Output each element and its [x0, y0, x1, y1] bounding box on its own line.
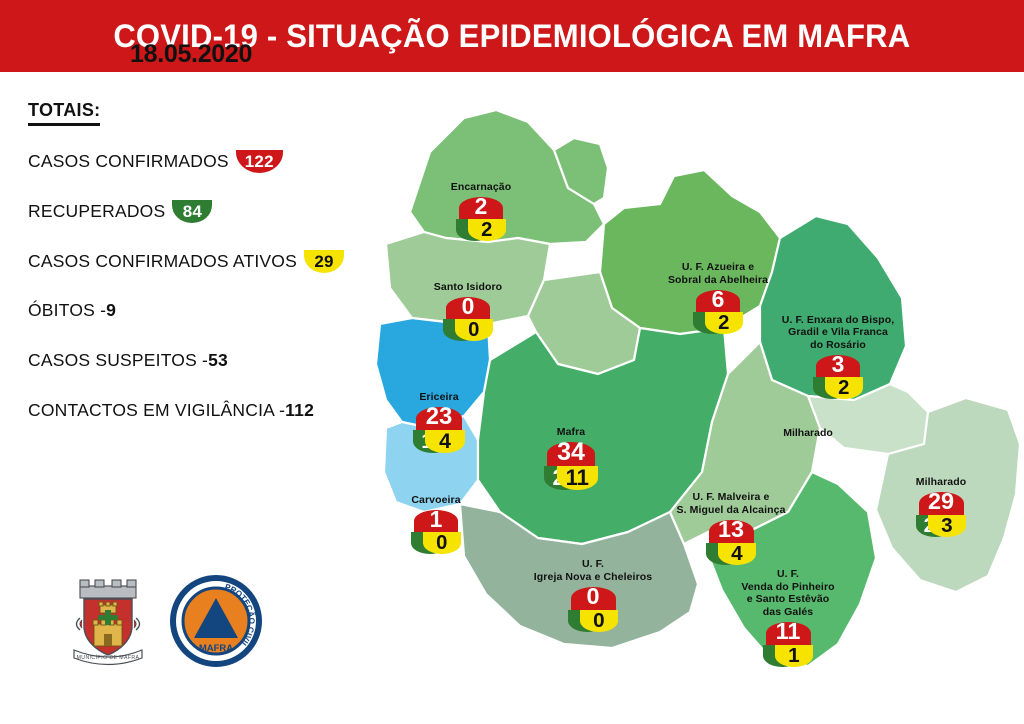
marker-label-igreja-nova-cheleiros: U. F.Igreja Nova e Cheleiros: [534, 558, 652, 583]
marker-active-encarnacao: 2: [468, 219, 506, 241]
coat-of-arms-caption: MUNICÍPIO DE MAFRA: [77, 654, 140, 661]
marker-label-line: Ericeira: [419, 391, 458, 404]
marker-confirmed-mafra: 34: [547, 442, 595, 466]
totals-heading: TOTAIS:: [28, 100, 100, 126]
marker-label-line: Sobral da Abelheira: [668, 274, 768, 287]
total-row-5: CONTACTOS EM VIGILÂNCIA - 112: [28, 400, 314, 421]
marker-active-ericeira: 4: [425, 430, 465, 453]
marker-label-line: Mafra: [557, 426, 586, 439]
marker-confirmed-encarnacao: 2: [459, 197, 503, 219]
marker-confirmed-azueira-sobral: 6: [696, 290, 740, 312]
total-row-3: ÓBITOS - 9: [28, 300, 116, 321]
marker-label-line: U. F. Malveira e: [676, 491, 785, 504]
total-label: CASOS CONFIRMADOS: [28, 151, 229, 172]
marker-active-santo-isidoro: 0: [455, 319, 493, 341]
total-value-badge: 29: [304, 250, 344, 273]
total-row-2: CASOS CONFIRMADOS ATIVOS29: [28, 250, 344, 273]
marker-label-line: U. F. Enxara do Bispo,: [782, 314, 894, 327]
marker-active-enxara-gradil-vilafranca: 2: [825, 377, 863, 399]
marker-label-line: S. Miguel da Alcainça: [676, 504, 785, 517]
marker-active-igreja-nova-cheleiros: 0: [580, 610, 619, 633]
marker-active-mafra: 11: [557, 466, 598, 490]
marker-confirmed-venda-pinheiro-sto-estevao: 11: [766, 622, 811, 645]
marker-label-azueira-sobral: U. F. Azueira eSobral da Abelheira: [668, 261, 768, 286]
marker-label-encarnacao: Encarnação: [451, 181, 512, 194]
total-label: RECUPERADOS: [28, 201, 165, 222]
protecao-civil-mafra-icon: PROTEÇÃO CIVIL MAFRA: [170, 575, 262, 667]
marker-label-ericeira: Ericeira: [419, 391, 458, 404]
logos-group: MUNICÍPIO DE MAFRA PROTEÇÃO CIVIL MAFRA: [60, 572, 280, 672]
report-date: 18.05.2020: [130, 40, 252, 69]
marker-label-santo-isidoro: Santo Isidoro: [434, 281, 502, 294]
total-value: 53: [208, 350, 228, 371]
marker-label-line: Santo Isidoro: [434, 281, 502, 294]
map-label-0: Milharado: [783, 427, 833, 439]
marker-label-line: Igreja Nova e Cheleiros: [534, 571, 652, 584]
total-row-0: CASOS CONFIRMADOS122: [28, 150, 283, 173]
total-label: ÓBITOS -: [28, 300, 106, 321]
protecao-civil-mafra-text: MAFRA: [199, 643, 233, 654]
marker-label-line: U. F.: [534, 558, 652, 571]
marker-confirmed-milharado: 29: [919, 492, 964, 515]
totals-panel: 18.05.2020 TOTAIS: CASOS CONFIRMADOS122R…: [0, 0, 370, 420]
marker-confirmed-igreja-nova-cheleiros: 0: [571, 587, 616, 610]
total-row-4: CASOS SUSPEITOS - 53: [28, 350, 228, 371]
marker-active-malveira-smiguel: 4: [718, 543, 757, 566]
total-value-badge: 122: [236, 150, 283, 173]
marker-active-azueira-sobral: 2: [705, 312, 743, 334]
marker-label-line: Carvoeira: [411, 494, 460, 507]
marker-label-line: Encarnação: [451, 181, 512, 194]
marker-label-carvoeira: Carvoeira: [411, 494, 460, 507]
marker-label-line: e Santo Estêvão: [741, 593, 834, 606]
marker-label-venda-pinheiro-sto-estevao: U. F.Venda do Pinheiroe Santo Estêvãodas…: [741, 568, 834, 618]
total-row-1: RECUPERADOS84: [28, 200, 212, 223]
marker-active-milharado: 3: [928, 515, 967, 538]
marker-confirmed-carvoeira: 1: [414, 510, 458, 532]
marker-label-line: Venda do Pinheiro: [741, 581, 834, 594]
marker-confirmed-enxara-gradil-vilafranca: 3: [816, 355, 860, 377]
municipio-de-mafra-coat-of-arms-icon: MUNICÍPIO DE MAFRA: [60, 572, 156, 668]
total-value: 9: [106, 300, 116, 321]
total-value: 112: [285, 400, 314, 421]
marker-label-malveira-smiguel: U. F. Malveira eS. Miguel da Alcainça: [676, 491, 785, 516]
marker-label-line: Gradil e Vila Franca: [782, 326, 894, 339]
total-value-badge: 84: [172, 200, 212, 223]
marker-active-venda-pinheiro-sto-estevao: 1: [775, 645, 814, 668]
marker-active-carvoeira: 0: [423, 532, 461, 554]
total-label: CASOS CONFIRMADOS ATIVOS: [28, 251, 297, 272]
marker-confirmed-santo-isidoro: 0: [446, 297, 490, 319]
marker-label-line: das Galés: [741, 606, 834, 619]
marker-label-mafra: Mafra: [557, 426, 586, 439]
marker-label-line: do Rosário: [782, 339, 894, 352]
mafra-municipality-map: Milharado Encarnação022Santo Isidoro000E…: [368, 92, 1024, 692]
marker-label-line: U. F.: [741, 568, 834, 581]
marker-label-line: Milharado: [916, 476, 967, 489]
total-label: CONTACTOS EM VIGILÂNCIA -: [28, 400, 285, 421]
marker-label-milharado: Milharado: [916, 476, 967, 489]
marker-label-enxara-gradil-vilafranca: U. F. Enxara do Bispo,Gradil e Vila Fran…: [782, 314, 894, 352]
marker-label-line: U. F. Azueira e: [668, 261, 768, 274]
region-azueira-sobral[interactable]: [600, 170, 780, 334]
total-label: CASOS SUSPEITOS -: [28, 350, 208, 371]
marker-confirmed-malveira-smiguel: 13: [709, 520, 754, 543]
infographic-page: COVID-19 - SITUAÇÃO EPIDEMIOLÓGICA EM MA…: [0, 0, 1024, 724]
marker-confirmed-ericeira: 23: [416, 407, 462, 430]
